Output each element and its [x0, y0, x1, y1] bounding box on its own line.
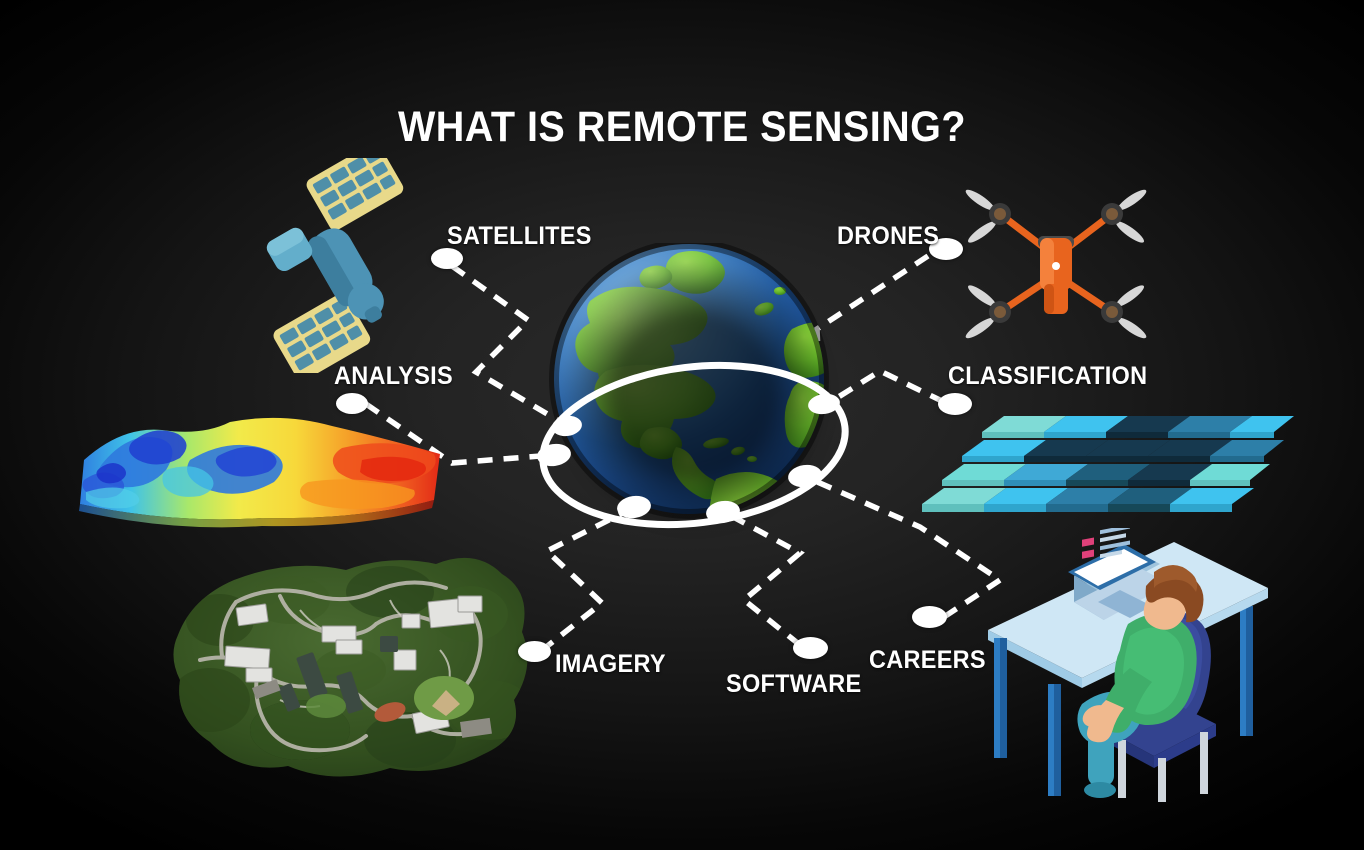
terrain-surface-icon	[62, 408, 454, 534]
drone-icon	[958, 188, 1154, 340]
label-analysis: ANALYSIS	[334, 362, 453, 391]
node-dot-imagery[interactable]	[518, 641, 551, 662]
page-title: WHAT IS REMOTE SENSING?	[55, 103, 1310, 152]
node-dot-software[interactable]	[793, 637, 828, 659]
node-dot-analysis[interactable]	[336, 393, 368, 414]
aerial-orthomosaic-icon	[140, 540, 564, 792]
drone-body	[1038, 236, 1074, 314]
label-drones: DRONES	[837, 222, 939, 251]
globe-shadow	[558, 261, 830, 529]
label-software: SOFTWARE	[726, 670, 861, 699]
node-dot-classification[interactable]	[938, 393, 972, 415]
solar-panel-upper	[304, 158, 406, 233]
label-imagery: IMAGERY	[555, 650, 666, 679]
node-dot-satellites[interactable]	[431, 248, 463, 269]
person-at-desk-icon	[978, 528, 1314, 802]
label-satellites: SATELLITES	[447, 222, 592, 251]
earth-globe	[548, 243, 838, 533]
infographic-canvas: WHAT IS REMOTE SENSING?	[0, 0, 1364, 850]
raster-grid-icon	[918, 396, 1294, 528]
orthomosaic-body	[140, 540, 564, 792]
desk-legs-back	[1240, 606, 1253, 736]
label-classification: CLASSIFICATION	[948, 362, 1147, 391]
satellite-icon	[232, 158, 447, 373]
node-dot-careers[interactable]	[912, 606, 947, 628]
label-careers: CAREERS	[869, 646, 986, 675]
raster-cells	[922, 416, 1294, 512]
